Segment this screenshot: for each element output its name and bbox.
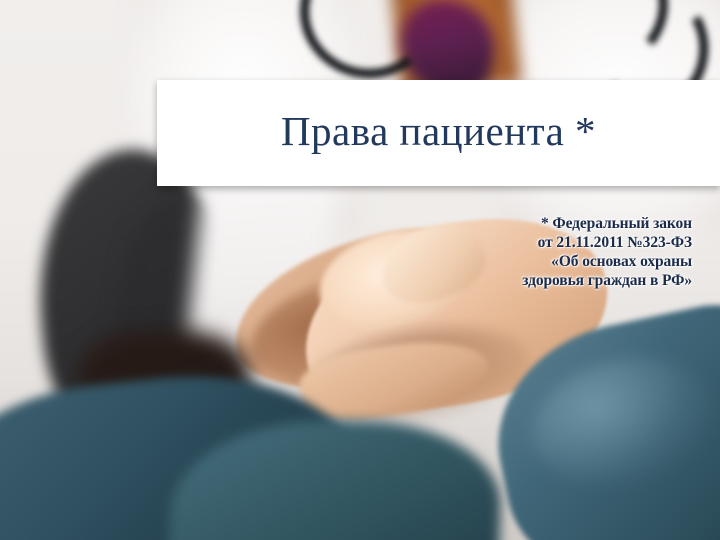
footnote-line-4: здоровья граждан в РФ» — [332, 271, 692, 290]
footnote-line-1: * Федеральный закон — [332, 214, 692, 233]
title-band: Права пациента * — [157, 80, 720, 186]
footnote-line-2: от 21.11.2011 №323-ФЗ — [332, 233, 692, 252]
page-title: Права пациента * — [157, 80, 720, 186]
patient-head-blurred — [0, 55, 50, 255]
slide-canvas: Права пациента * * Федеральный закон от … — [0, 0, 720, 540]
footnote-line-3: «Об основах охраны — [332, 252, 692, 271]
footnote-block: * Федеральный закон от 21.11.2011 №323-Ф… — [332, 214, 692, 290]
